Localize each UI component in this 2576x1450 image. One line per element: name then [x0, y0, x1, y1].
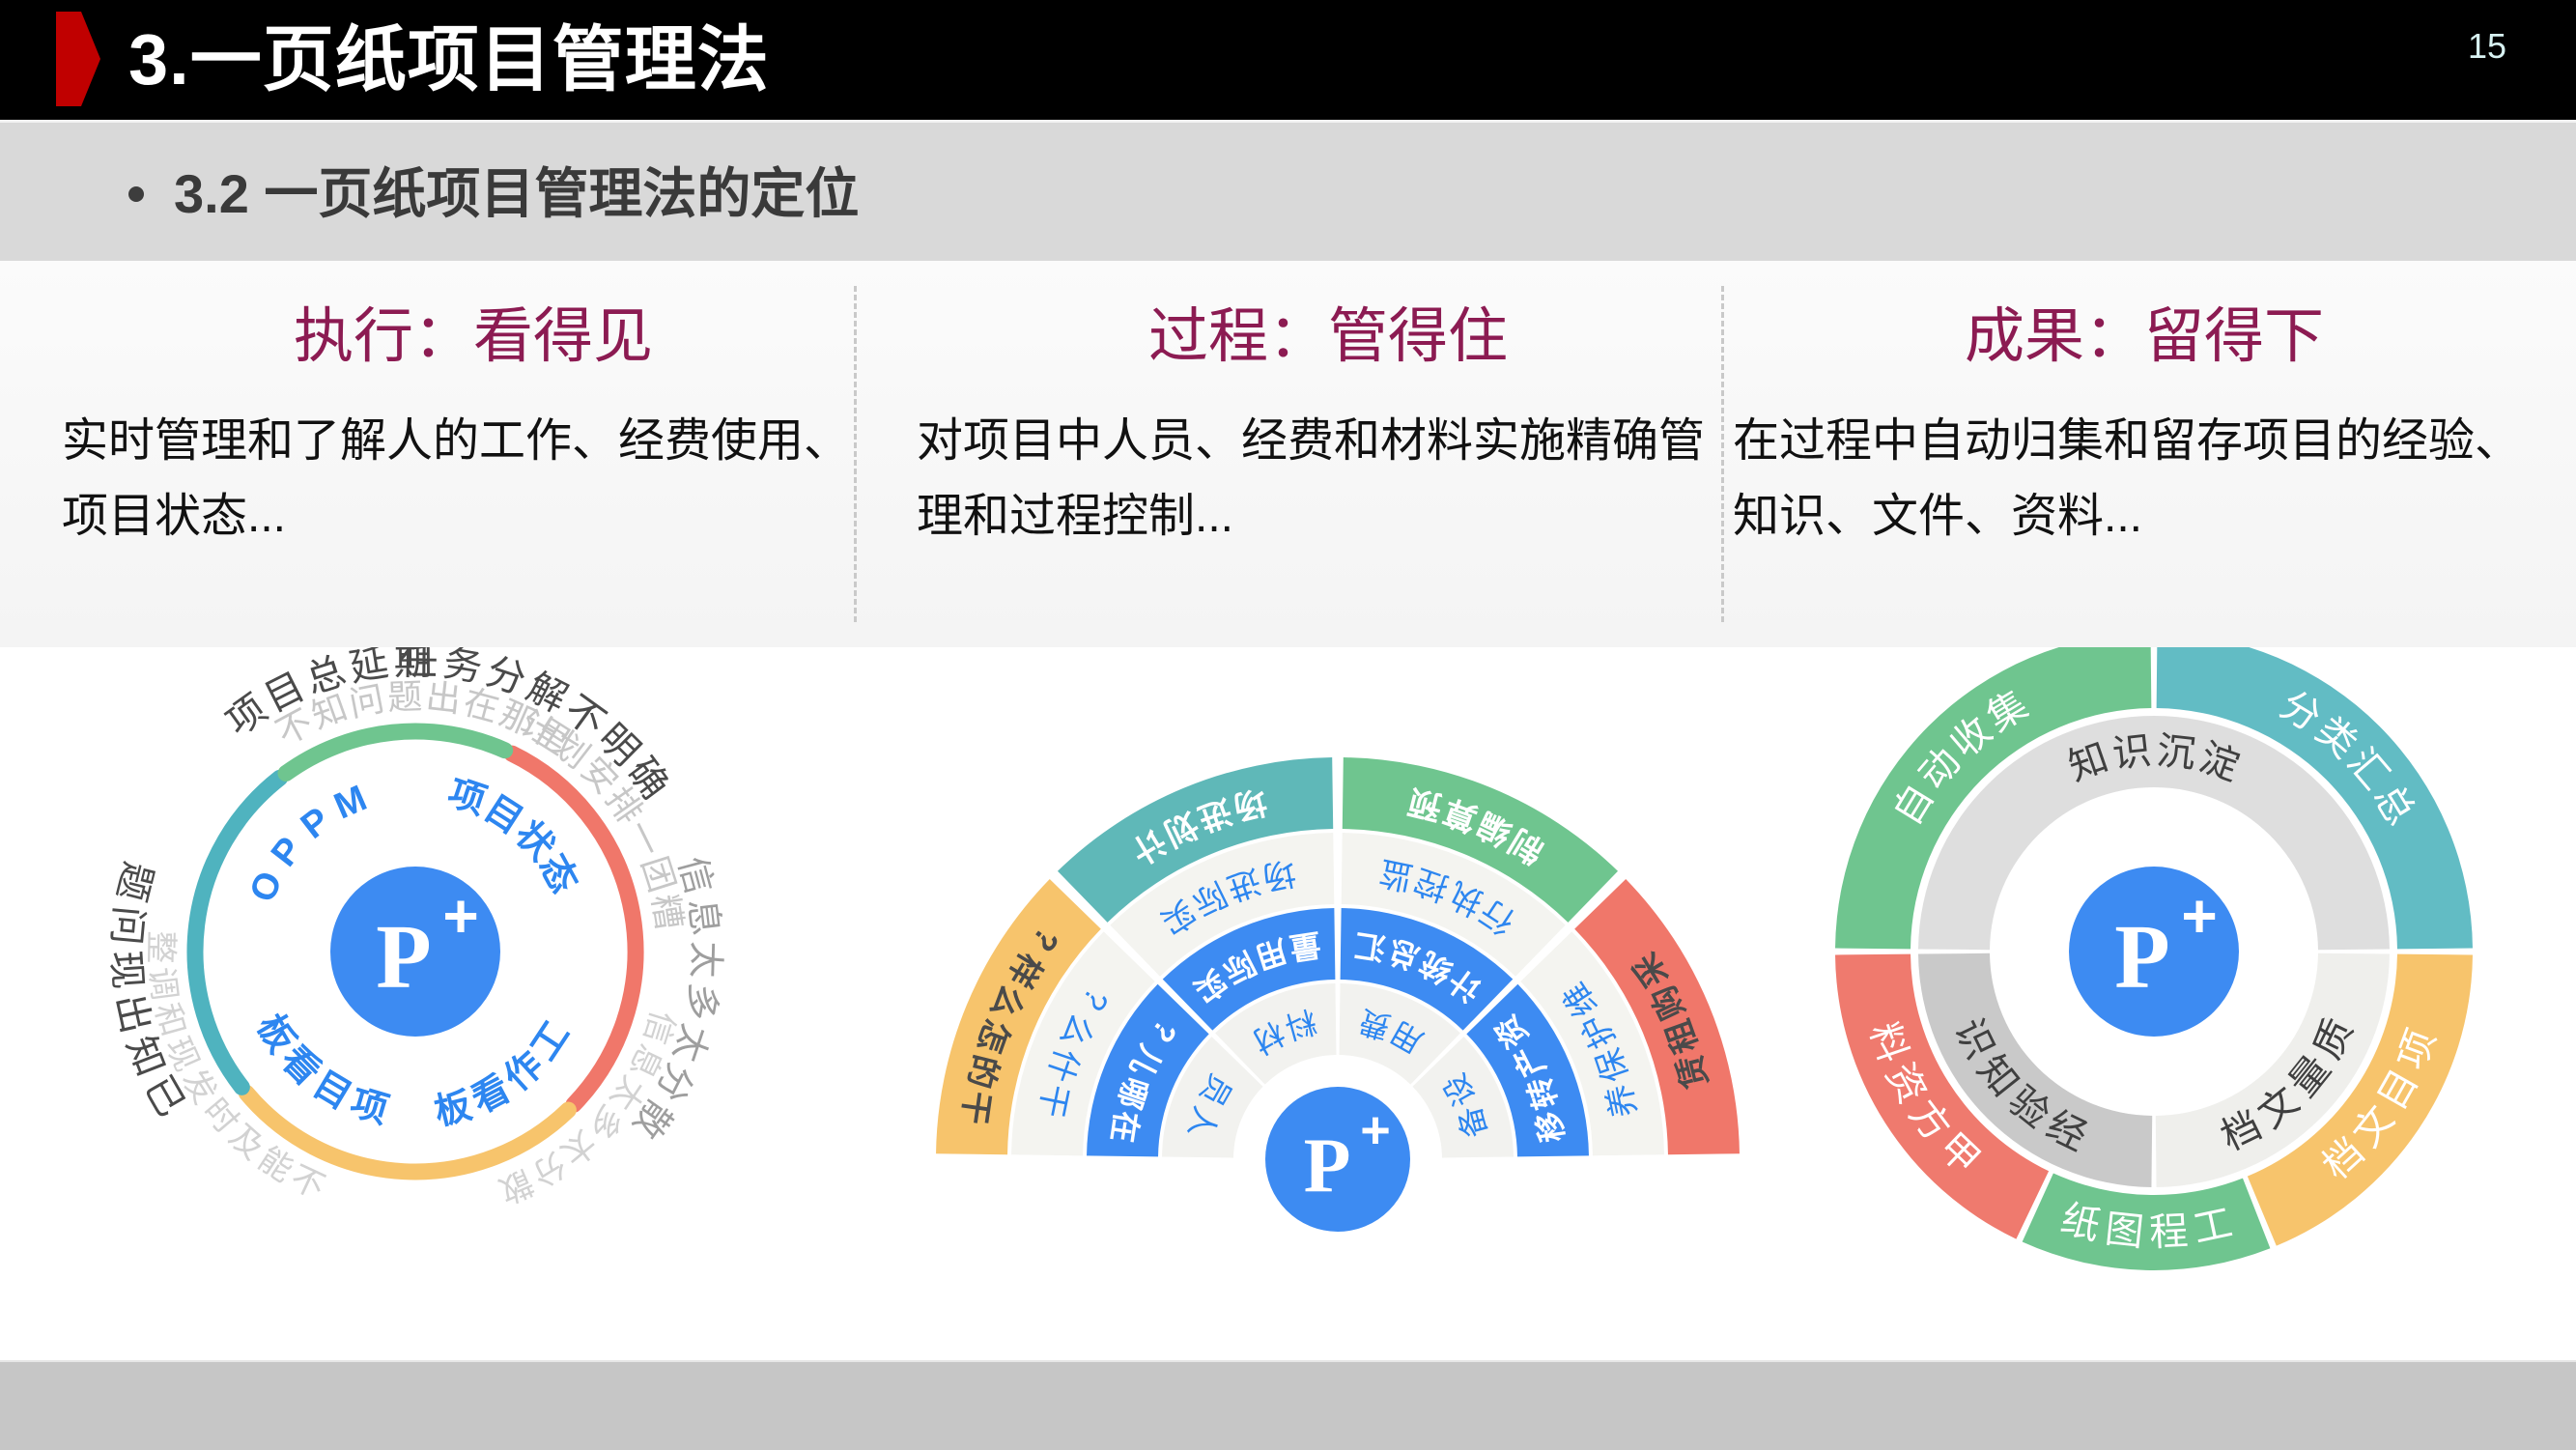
- ring-label-char: 干: [955, 1089, 996, 1126]
- center-logo-p: P: [376, 907, 431, 1008]
- column-body: 实时管理和了解人的工作、经费使用、项目状态...: [58, 390, 889, 554]
- diagram-band: 项目总延期任务分解不明确已知出现问题 不知问题出在那里计划安排一团糟信息太多太分…: [0, 647, 2576, 1343]
- center-logo-plus: +: [442, 881, 478, 951]
- ring-label-char: 在: [1105, 1109, 1144, 1145]
- ring-label-char: 息: [681, 896, 725, 938]
- diagrams-svg: 项目总延期任务分解不明确已知出现问题 不知问题出在那里计划安排一团糟信息太多太分…: [0, 647, 2576, 1343]
- column-heading: 成果：留得下: [1729, 261, 2560, 390]
- ring-label-char: 多: [677, 981, 723, 1024]
- footer-bar: [0, 1360, 2576, 1450]
- ring-label-char: M: [328, 778, 373, 827]
- center-logo-p: P: [2114, 907, 2169, 1008]
- page-number: 15: [2468, 27, 2506, 66]
- ring-label-char: 出: [424, 676, 463, 720]
- diagram-execution-ring: 项目总延期任务分解不明确已知出现问题 不知问题出在那里计划安排一团糟信息太多太分…: [103, 647, 725, 1209]
- ring-label-char: 移: [1531, 1109, 1570, 1145]
- ring-label-char: P: [294, 800, 338, 847]
- center-logo-plus: +: [1360, 1101, 1391, 1159]
- column-execution: 执行：看得见 实时管理和了解人的工作、经费使用、项目状态...: [58, 261, 889, 647]
- ring-label-char: 现: [103, 950, 148, 991]
- ring-label-char: 汇: [1352, 926, 1388, 965]
- column-heading: 过程：管得住: [913, 261, 1743, 390]
- ring-label-char: 题: [386, 676, 423, 717]
- ring-label-char: 图: [2103, 1208, 2145, 1254]
- subtitle-text: 3.2 一页纸项目管理法的定位: [174, 150, 859, 239]
- ring-label-char: 整: [142, 930, 180, 964]
- ring-label-char: 调: [142, 965, 183, 1003]
- ring-label-char: 题: [109, 858, 159, 905]
- column-body: 在过程中自动归集和留存项目的经验、知识、文件、资料...: [1729, 390, 2560, 554]
- page-title: 3.一页纸项目管理法: [128, 6, 770, 114]
- center-logo-p: P: [1304, 1123, 1351, 1208]
- ring-label-char: 量: [1288, 926, 1323, 965]
- slide-header: 3.一页纸项目管理法 15: [0, 0, 2576, 120]
- column-body: 对项目中人员、经费和材料实施精确管理和过程控制...: [913, 390, 1743, 554]
- column-process: 过程：管得住 对项目中人员、经费和材料实施精确管理和过程控制...: [913, 261, 1743, 647]
- ring-label-char: 沉: [2155, 729, 2198, 776]
- diagram-process-fan: 人员在哪儿?干什么?干的怎么样?材料实际用量实际进场计划进场费用汇总统计监控执行…: [936, 757, 1740, 1232]
- subtitle-bar: 3.2 一页纸项目管理法的定位: [0, 120, 2576, 261]
- ring-label-char: 问: [346, 678, 387, 724]
- column-heading: 执行：看得见: [58, 261, 889, 390]
- ring-label-char: P: [264, 830, 311, 874]
- center-logo-plus: +: [2181, 881, 2217, 951]
- ring-label-char: 程: [2148, 1210, 2189, 1255]
- red-arrow-icon: [56, 12, 100, 106]
- column-results: 成果：留得下 在过程中自动归集和留存项目的经验、知识、文件、资料...: [1729, 261, 2560, 647]
- diagram-results-ring: 自动收集分类汇总项目文档工程图纸甲方资料 知识沉淀经验知识质量文档 P +: [1835, 647, 2473, 1270]
- ring-label-char: 太: [684, 941, 725, 979]
- definition-columns: 执行：看得见 实时管理和了解人的工作、经费使用、项目状态... 过程：管得住 对…: [0, 261, 2576, 647]
- ring-label-char: O: [242, 866, 291, 908]
- results-outer-segment: [2023, 1173, 2271, 1270]
- bullet-icon: [128, 186, 144, 202]
- execution-arc: [286, 731, 505, 774]
- ring-label-char: 识: [2110, 729, 2154, 776]
